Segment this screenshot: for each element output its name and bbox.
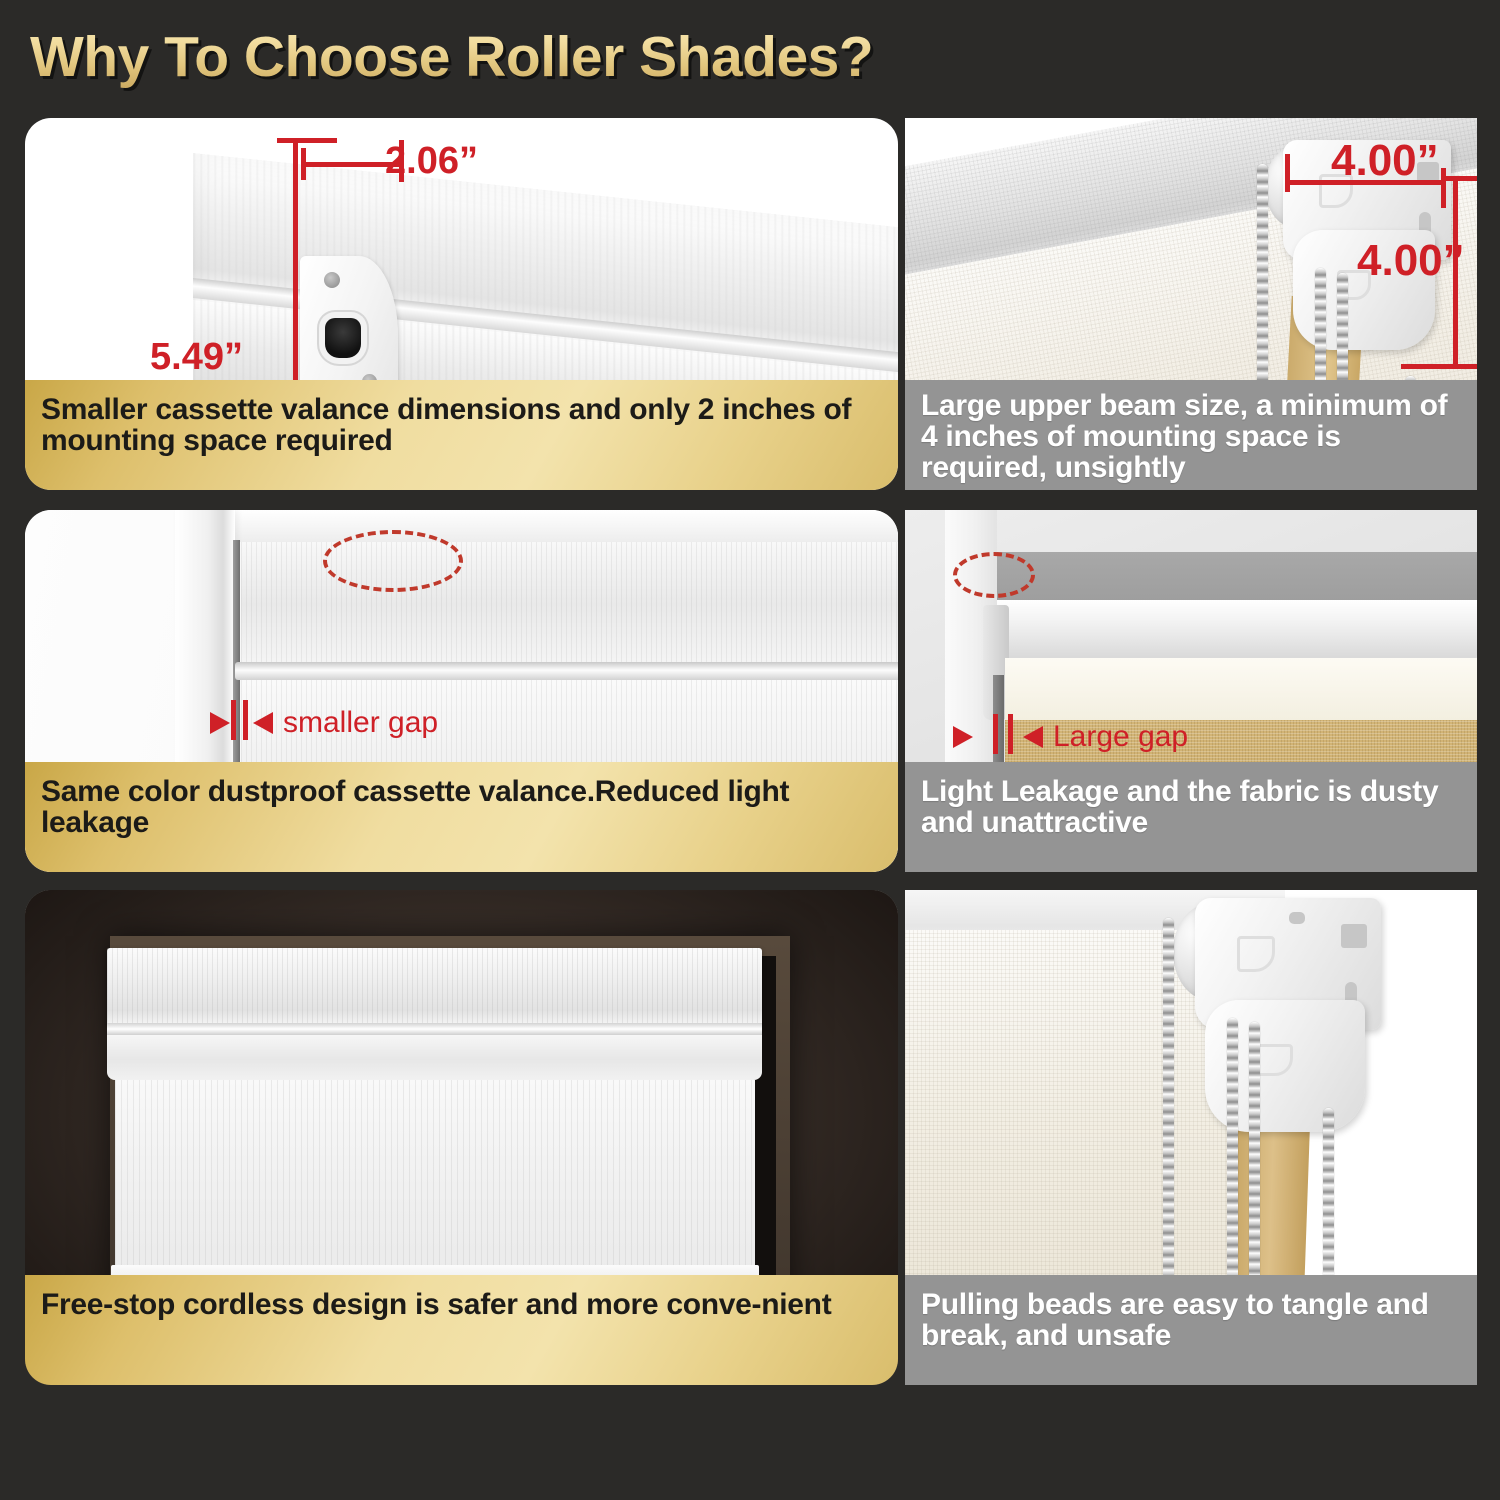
shade-fabric-room (115, 1080, 755, 1270)
dim-beam-width-tick-right (1441, 168, 1446, 208)
dim-beam-width-label: 4.00” (1331, 136, 1439, 186)
dim-beam-height-label: 4.00” (1357, 236, 1465, 286)
highlight-dashed-ellipse (323, 530, 463, 592)
dim-beam-width-tick-left (1285, 154, 1290, 192)
cassette-roll-room (107, 1035, 762, 1080)
panel-large-beam: 4.00” 4.00” Large upper beam size, a min… (905, 118, 1477, 490)
page-title: Why To Choose Roller Shades? (30, 22, 1130, 92)
dim-height-label: 5.49” (150, 336, 243, 379)
caption-panel-1: Smaller cassette valance dimensions and … (25, 380, 898, 490)
gap-tick-left-right (993, 714, 998, 754)
cassette-lip-room (107, 1023, 762, 1035)
dim-beam-height-tick-bottom (1401, 364, 1477, 369)
dim-width-label: 2.06” (385, 140, 478, 183)
gap-tick-left (231, 700, 236, 740)
endcap-screw-top-icon (324, 272, 340, 288)
gap-arrow-right-icon (253, 712, 273, 734)
bracket-slot-top-right-beads (1341, 924, 1367, 948)
gap-tick-right (243, 700, 248, 740)
endcap-roller-socket (325, 318, 361, 358)
caption-panel-3: Same color dustproof cassette valance.Re… (25, 762, 898, 872)
gap-tick-right-right (1008, 714, 1013, 754)
panel-cordless-design: Free-stop cordless design is safer and m… (25, 890, 898, 1385)
gap-label-smaller: smaller gap (283, 706, 438, 740)
shade-top-shadow (997, 552, 1477, 607)
window-frame-top (175, 510, 898, 542)
panel-pulling-beads: Pulling beads are easy to tangle and bre… (905, 890, 1477, 1385)
cassette-valance-room (107, 948, 762, 1026)
dim-beam-height-tick-top (1443, 176, 1477, 181)
panel-cassette-dimensions: 2.06” 5.49” Smaller cassette valance dim… (25, 118, 898, 490)
panel-small-gap: smaller gap Same color dustproof cassett… (25, 510, 898, 872)
caption-panel-5: Free-stop cordless design is safer and m… (25, 1275, 898, 1385)
gap-arrow-left-icon-right (953, 726, 973, 748)
shade-mid-rail (235, 662, 898, 680)
gap-arrow-left-icon (210, 712, 230, 734)
caption-panel-2: Large upper beam size, a minimum of 4 in… (905, 380, 1477, 490)
caption-panel-4: Light Leakage and the fabric is dusty an… (905, 762, 1477, 872)
gap-label-large: Large gap (1053, 720, 1188, 754)
dim-width-tick-left (301, 148, 306, 180)
gap-arrow-right-icon-right (1023, 726, 1043, 748)
highlight-dashed-ellipse-right (953, 552, 1035, 598)
shade-white-band (1005, 658, 1477, 720)
bracket-slot-mid-beads (1289, 912, 1305, 924)
bracket-embossed-arrow-lower-beads (1255, 1044, 1293, 1076)
dim-height-tick-top (277, 138, 337, 143)
shade-roller-tube (997, 600, 1477, 660)
caption-panel-6: Pulling beads are easy to tangle and bre… (905, 1275, 1477, 1385)
panel-large-gap: Large gap Light Leakage and the fabric i… (905, 510, 1477, 872)
bracket-embossed-arrow-upper-beads (1237, 936, 1275, 972)
